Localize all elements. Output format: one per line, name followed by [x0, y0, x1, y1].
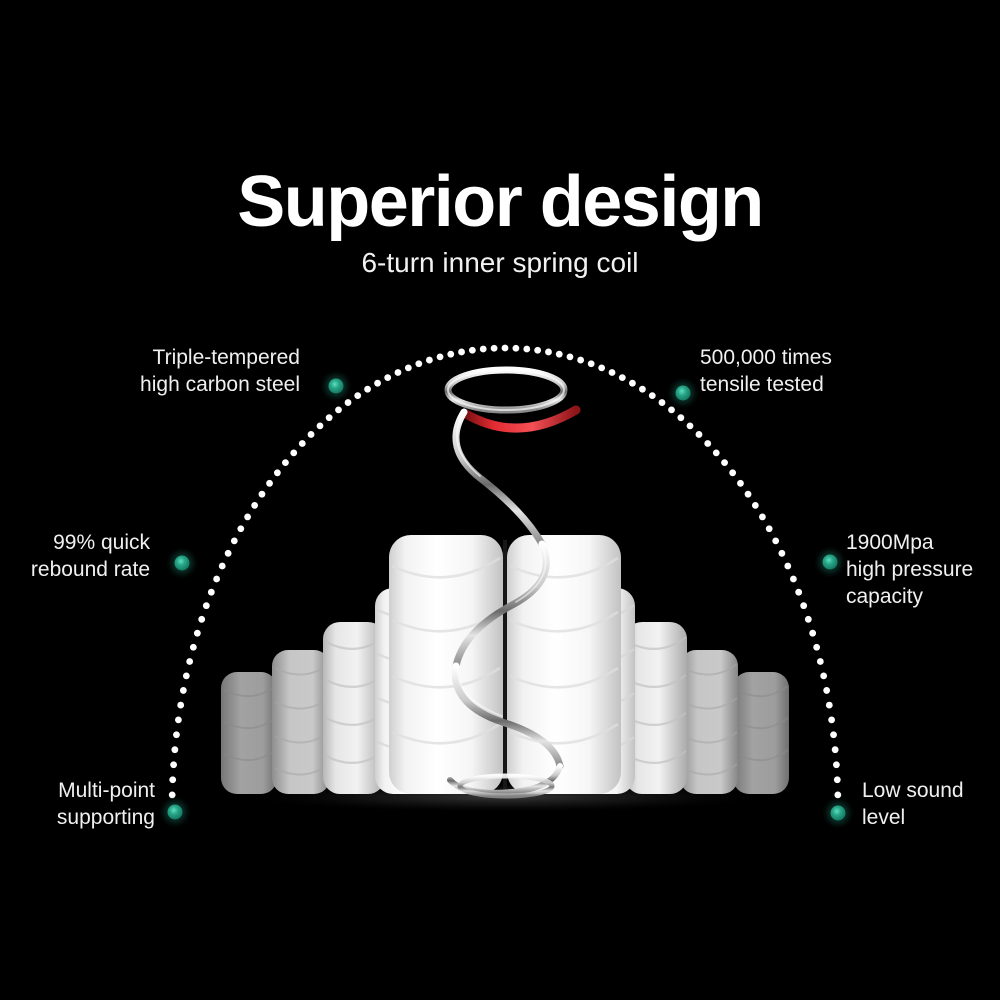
arc-dot [832, 746, 839, 753]
feature-marker-multi-point[interactable] [159, 796, 191, 828]
feature-marker-pressure-capacity[interactable] [814, 546, 846, 578]
arc-dot [795, 589, 802, 596]
arc-dot [335, 407, 342, 414]
arc-dot [274, 469, 281, 476]
arc-dot [588, 360, 595, 367]
arc-dot [213, 576, 220, 583]
arc-dot [800, 602, 807, 609]
arc-dot [225, 550, 232, 557]
arc-dot [208, 589, 215, 596]
arc-dot [171, 746, 178, 753]
feature-label-pressure-capacity: 1900Mpa high pressure capacity [846, 530, 996, 611]
arc-dot [677, 414, 684, 421]
arc-dot [266, 480, 273, 487]
feature-label-tensile-tested: 500,000 times tensile tested [700, 345, 960, 399]
infographic-canvas: Superior design 6-turn inner spring coil… [0, 0, 1000, 1000]
arc-dot [609, 369, 616, 376]
page-title: Superior design [0, 166, 1000, 238]
dotted-arc [0, 0, 1000, 1000]
arc-dot [290, 449, 297, 456]
arc-dot [317, 422, 324, 429]
arc-marker-group [159, 370, 854, 829]
arc-dot [426, 357, 433, 364]
arc-dot [469, 347, 476, 354]
arc-dot [567, 353, 574, 360]
arc-dot [639, 386, 646, 393]
arc-dot [458, 349, 465, 356]
arc-dot [244, 514, 251, 521]
marker-dot [831, 806, 846, 821]
marker-dot [823, 555, 838, 570]
arc-dot [713, 449, 720, 456]
feature-marker-rebound-rate[interactable] [166, 547, 198, 579]
arc-dot [447, 351, 454, 358]
arc-dot [809, 630, 816, 637]
arc-dot [668, 407, 675, 414]
arc-dot [545, 349, 552, 356]
arc-dot [326, 414, 333, 421]
arc-dot [813, 644, 820, 651]
arc-dot [299, 440, 306, 447]
arc-dot [772, 538, 779, 545]
arc-dot [784, 563, 791, 570]
arc-dot [354, 392, 361, 399]
arc-dot [649, 392, 656, 399]
arc-dot [556, 351, 563, 358]
arc-dot [513, 345, 520, 352]
marker-dot [329, 379, 344, 394]
arc-dot [186, 658, 193, 665]
arc-dot [704, 440, 711, 447]
arc-dot [619, 374, 626, 381]
page-subtitle: 6-turn inner spring coil [0, 249, 1000, 277]
arc-dot [480, 346, 487, 353]
arc-dot [251, 502, 258, 509]
feature-label-triple-tempered: Triple-tempered high carbon steel [40, 345, 300, 399]
arc-dot [759, 514, 766, 521]
arc-dot [282, 459, 289, 466]
arc-dot [177, 702, 184, 709]
feature-label-rebound-rate: 99% quick rebound rate [10, 530, 150, 584]
arc-dot [364, 386, 371, 393]
marker-dot [168, 805, 183, 820]
arc-dot [737, 480, 744, 487]
arc-dot [237, 525, 244, 532]
arc-dot [833, 761, 840, 768]
arc-dot [203, 602, 210, 609]
feature-marker-low-sound[interactable] [822, 797, 854, 829]
arc-dot [577, 357, 584, 364]
arc-dot [745, 491, 752, 498]
arc-dot [534, 347, 541, 354]
arc-dot [437, 353, 444, 360]
arc-dot [308, 431, 315, 438]
arc-dot [194, 630, 201, 637]
arc-dot [374, 380, 381, 387]
arc-dot [219, 563, 226, 570]
arc-dot [190, 644, 197, 651]
arc-dot [823, 687, 830, 694]
arc-dot [721, 459, 728, 466]
arc-dot [696, 431, 703, 438]
arc-dot [817, 658, 824, 665]
arc-dot [805, 616, 812, 623]
arc-dot [834, 776, 841, 783]
feature-marker-triple-tempered[interactable] [320, 370, 352, 402]
arc-dot [415, 360, 422, 367]
arc-dot [523, 346, 530, 353]
arc-dot [830, 731, 837, 738]
arc-dot [405, 364, 412, 371]
arc-dot [687, 422, 694, 429]
arc-dot-group [169, 345, 842, 814]
arc-dot [231, 538, 238, 545]
arc-dot [659, 399, 666, 406]
arc-dot [828, 716, 835, 723]
arc-dot [766, 525, 773, 532]
arc-dot [491, 345, 498, 352]
arc-dot [198, 616, 205, 623]
marker-dot [676, 386, 691, 401]
feature-label-multi-point: Multi-point supporting [5, 778, 155, 832]
arc-dot [175, 716, 182, 723]
arc-dot [384, 374, 391, 381]
feature-label-low-sound: Low sound level [862, 778, 1000, 832]
arc-dot [173, 731, 180, 738]
arc-dot [169, 776, 176, 783]
arc-dot [752, 502, 759, 509]
arc-dot [729, 469, 736, 476]
marker-dot [175, 556, 190, 571]
arc-dot [778, 550, 785, 557]
arc-dot [259, 491, 266, 498]
arc-dot [395, 369, 402, 376]
arc-dot [345, 399, 352, 406]
arc-dot [790, 576, 797, 583]
arc-dot [502, 345, 509, 352]
arc-dot [826, 702, 833, 709]
arc-dot [183, 672, 190, 679]
arc-dot [820, 672, 827, 679]
arc-dot [180, 687, 187, 694]
arc-dot [598, 364, 605, 371]
arc-dot [170, 761, 177, 768]
feature-marker-tensile-tested[interactable] [667, 377, 699, 409]
arc-dot [629, 380, 636, 387]
